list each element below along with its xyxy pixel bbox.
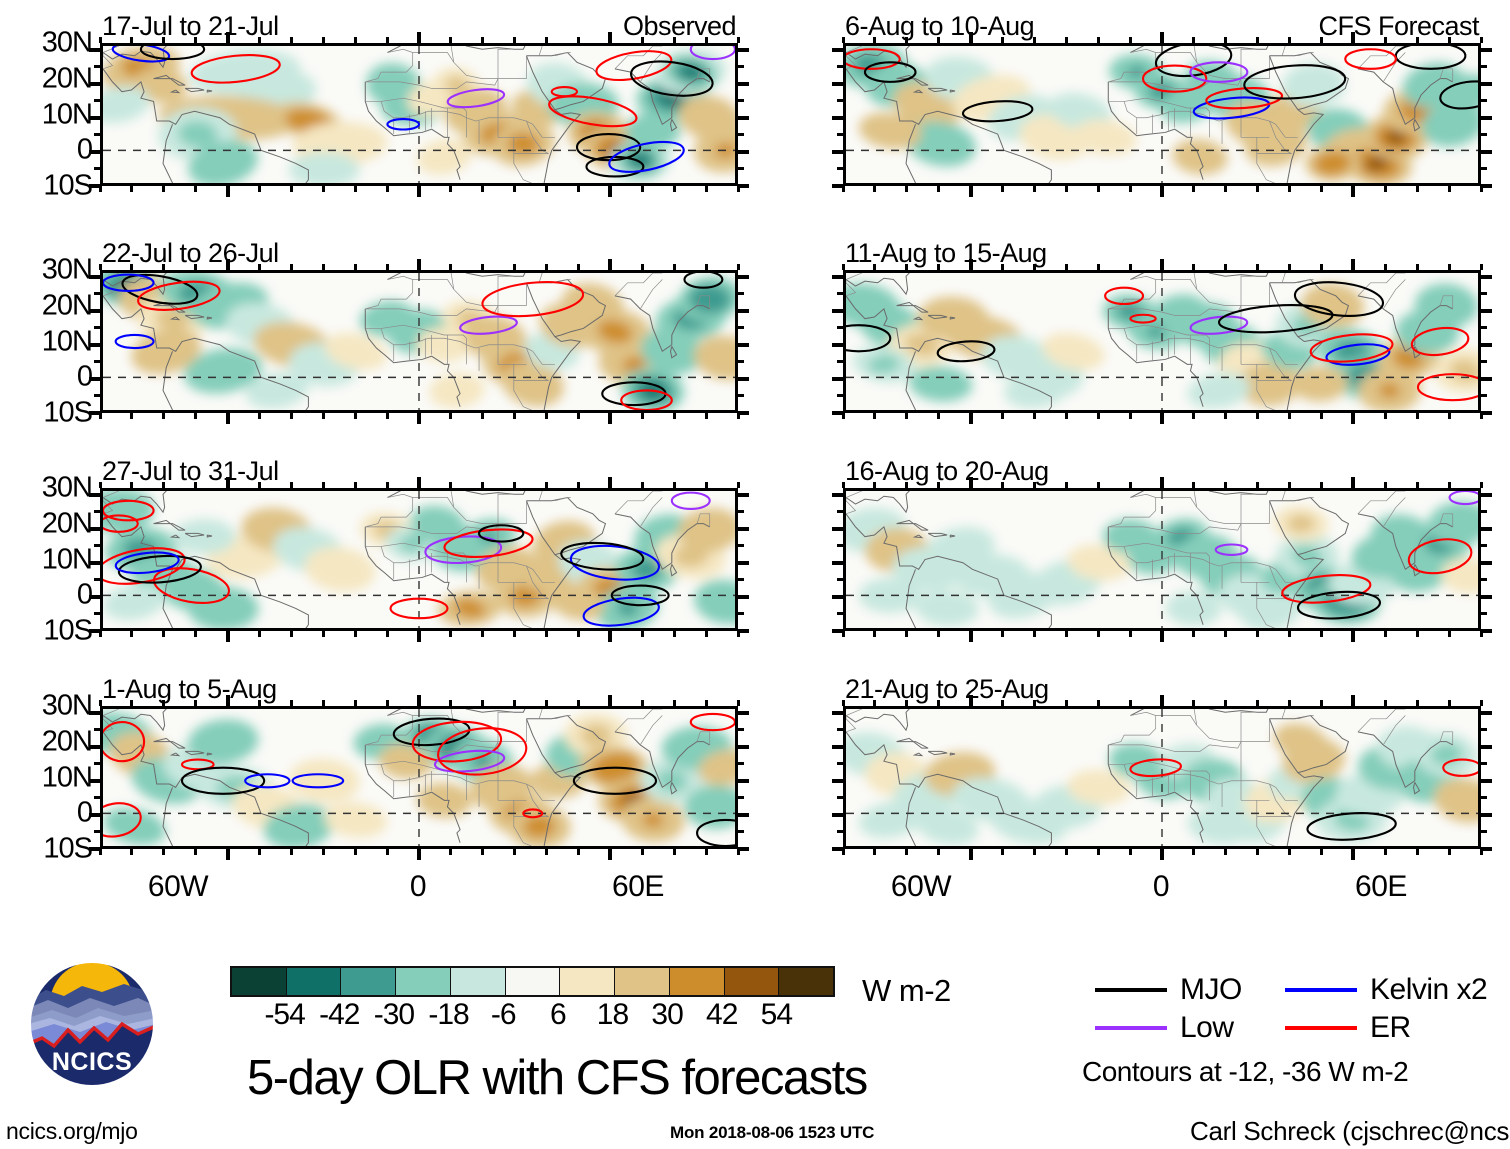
- axis-tick: [1224, 700, 1227, 706]
- axis-tick: [1288, 413, 1291, 419]
- axis-tick: [673, 186, 676, 192]
- axis-tick: [1033, 37, 1036, 43]
- axis-tick: [832, 561, 843, 565]
- axis-tick: [905, 37, 908, 43]
- axis-tick: [837, 578, 843, 581]
- axis-tick: [1448, 849, 1451, 855]
- axis-tick: [1097, 482, 1100, 488]
- axis-tick: [1224, 264, 1227, 270]
- axis-tick: [513, 186, 516, 192]
- axis-tick: [354, 186, 357, 192]
- axis-tick: [738, 847, 749, 851]
- axis-tick: [1481, 326, 1487, 329]
- axis-tick: [1033, 849, 1036, 855]
- lon-tick-label: 60W: [891, 872, 951, 902]
- map-area[interactable]: [843, 270, 1481, 413]
- axis-tick: [832, 275, 843, 279]
- axis-tick: [905, 700, 908, 706]
- axis-tick: [1481, 578, 1487, 581]
- axis-tick: [89, 184, 100, 188]
- axis-tick: [1288, 631, 1291, 637]
- lat-tick-label: 10N: [42, 327, 92, 356]
- kelvin-line-swatch: [1285, 988, 1357, 992]
- axis-tick: [1481, 48, 1492, 52]
- axis-tick: [1481, 779, 1492, 783]
- axis-tick: [1129, 631, 1132, 637]
- lat-tick-label: 10N: [42, 545, 92, 574]
- map-area[interactable]: [100, 43, 738, 186]
- axis-tick: [481, 700, 484, 706]
- legend-item-low: Low: [1095, 1013, 1234, 1043]
- axis-tick: [641, 186, 644, 192]
- axis-tick: [386, 482, 389, 488]
- axis-tick: [1416, 413, 1419, 419]
- axis-tick: [94, 612, 100, 615]
- axis-tick: [837, 762, 843, 765]
- axis-tick: [705, 264, 708, 270]
- axis-tick: [1256, 849, 1259, 855]
- axis-tick: [94, 510, 100, 513]
- axis-tick: [417, 849, 421, 860]
- axis-tick: [1416, 482, 1419, 488]
- axis-tick: [1256, 700, 1259, 706]
- axis-tick: [832, 377, 843, 381]
- axis-tick: [1129, 482, 1132, 488]
- axis-tick: [449, 849, 452, 855]
- axis-tick: [738, 595, 749, 599]
- axis-tick: [738, 779, 749, 783]
- axis-tick: [873, 37, 876, 43]
- axis-tick: [842, 482, 845, 488]
- axis-tick: [737, 37, 740, 43]
- axis-tick: [937, 413, 940, 419]
- axis-tick: [1288, 264, 1291, 270]
- axis-tick: [1384, 186, 1387, 192]
- axis-tick: [608, 413, 612, 424]
- axis-tick: [705, 186, 708, 192]
- axis-tick: [1481, 82, 1492, 86]
- axis-tick: [1481, 360, 1487, 363]
- axis-tick: [1416, 264, 1419, 270]
- axis-tick: [290, 413, 293, 419]
- axis-tick: [1129, 37, 1132, 43]
- axis-tick: [969, 259, 973, 270]
- axis-tick: [481, 37, 484, 43]
- axis-tick: [738, 360, 744, 363]
- axis-tick: [1481, 309, 1492, 313]
- axis-tick: [738, 527, 749, 531]
- axis-tick: [1129, 264, 1132, 270]
- axis-tick: [89, 377, 100, 381]
- logo-text: NCICS: [52, 1048, 132, 1076]
- axis-tick: [937, 186, 940, 192]
- colorbar-band-2: [341, 968, 396, 995]
- axis-tick: [608, 477, 612, 488]
- axis-tick: [1160, 186, 1164, 197]
- legend-item-kelvin: Kelvin x2: [1285, 975, 1487, 1005]
- axis-tick: [94, 167, 100, 170]
- axis-tick: [608, 32, 612, 43]
- axis-tick: [258, 482, 261, 488]
- axis-tick: [94, 65, 100, 68]
- axis-tick: [738, 65, 744, 68]
- axis-tick: [481, 413, 484, 419]
- axis-tick: [258, 849, 261, 855]
- axis-tick: [1224, 482, 1227, 488]
- axis-tick: [969, 186, 973, 197]
- lat-tick-label: 30N: [42, 256, 92, 285]
- axis-tick: [258, 631, 261, 637]
- axis-tick: [737, 482, 740, 488]
- axis-tick: [1320, 482, 1323, 488]
- axis-tick: [738, 82, 749, 86]
- axis-tick: [1256, 264, 1259, 270]
- axis-tick: [837, 612, 843, 615]
- lat-tick-label: 30N: [42, 474, 92, 503]
- axis-tick: [738, 830, 744, 833]
- axis-tick: [417, 477, 421, 488]
- axis-tick: [969, 413, 973, 424]
- axis-tick: [641, 700, 644, 706]
- axis-tick: [1448, 37, 1451, 43]
- axis-tick: [449, 37, 452, 43]
- map-area[interactable]: [843, 488, 1481, 631]
- olr-field: [846, 46, 1478, 183]
- map-area[interactable]: [100, 488, 738, 631]
- axis-tick: [969, 32, 973, 43]
- lat-tick-label: 20N: [42, 64, 92, 93]
- colorbar: [230, 966, 835, 997]
- map-area[interactable]: [843, 706, 1481, 849]
- axis-tick: [89, 711, 100, 715]
- axis-tick: [1001, 186, 1004, 192]
- axis-tick: [1256, 631, 1259, 637]
- axis-tick: [1224, 413, 1227, 419]
- axis-tick: [673, 631, 676, 637]
- axis-tick: [1416, 631, 1419, 637]
- axis-tick: [322, 186, 325, 192]
- panel-p8: 21-Aug to 25-Aug: [843, 706, 1481, 849]
- map-area[interactable]: [843, 43, 1481, 186]
- axis-tick: [194, 37, 197, 43]
- axis-tick: [162, 700, 165, 706]
- lat-tick-label: 10N: [42, 100, 92, 129]
- axis-tick: [89, 343, 100, 347]
- axis-tick: [1160, 413, 1164, 424]
- axis-tick: [1481, 762, 1487, 765]
- lat-tick-label: 20N: [42, 509, 92, 538]
- axis-tick: [641, 631, 644, 637]
- axis-tick: [1160, 695, 1164, 706]
- axis-tick: [194, 186, 197, 192]
- low-line-swatch: [1095, 1026, 1167, 1030]
- axis-tick: [1351, 32, 1355, 43]
- axis-tick: [873, 700, 876, 706]
- axis-tick: [705, 413, 708, 419]
- axis-tick: [1192, 186, 1195, 192]
- axis-tick: [1192, 413, 1195, 419]
- axis-tick: [1481, 99, 1487, 102]
- axis-tick: [1481, 65, 1487, 68]
- axis-tick: [577, 37, 580, 43]
- axis-tick: [1351, 695, 1355, 706]
- axis-tick: [832, 343, 843, 347]
- axis-tick: [641, 849, 644, 855]
- axis-tick: [545, 264, 548, 270]
- timestamp: Mon 2018-08-06 1523 UTC: [670, 1124, 874, 1141]
- axis-tick: [905, 413, 908, 419]
- colorbar-tick-label: 6: [550, 1000, 566, 1030]
- colorbar-band-3: [396, 968, 451, 995]
- axis-tick: [1001, 264, 1004, 270]
- axis-tick: [1001, 849, 1004, 855]
- axis-tick: [1448, 264, 1451, 270]
- axis-tick: [873, 849, 876, 855]
- axis-tick: [1384, 264, 1387, 270]
- axis-tick: [226, 32, 230, 43]
- axis-tick: [1065, 631, 1068, 637]
- axis-tick: [354, 482, 357, 488]
- axis-tick: [94, 326, 100, 329]
- axis-tick: [1160, 849, 1164, 860]
- axis-tick: [89, 527, 100, 531]
- axis-tick: [386, 700, 389, 706]
- lon-tick-label: 60E: [612, 872, 664, 902]
- axis-tick: [545, 37, 548, 43]
- axis-tick: [673, 700, 676, 706]
- axis-tick: [322, 849, 325, 855]
- axis-tick: [1351, 413, 1355, 424]
- axis-tick: [738, 493, 749, 497]
- axis-tick: [832, 116, 843, 120]
- axis-tick: [1481, 411, 1492, 415]
- lat-axis-labels-row1: 30N 20N 10N 0 10S: [0, 43, 92, 186]
- axis-tick: [89, 116, 100, 120]
- axis-tick: [1256, 186, 1259, 192]
- axis-tick: [873, 482, 876, 488]
- axis-tick: [162, 413, 165, 419]
- axis-tick: [1320, 700, 1323, 706]
- axis-tick: [1033, 264, 1036, 270]
- axis-tick: [1416, 700, 1419, 706]
- axis-tick: [1384, 413, 1387, 419]
- axis-tick: [969, 477, 973, 488]
- axis-tick: [1033, 700, 1036, 706]
- axis-tick: [449, 631, 452, 637]
- panel-title: 22-Jul to 26-Jul: [102, 240, 279, 267]
- mjo-line-swatch: [1095, 988, 1167, 992]
- axis-tick: [417, 259, 421, 270]
- axis-tick: [354, 413, 357, 419]
- axis-tick: [1481, 510, 1487, 513]
- olr-field: [103, 273, 735, 410]
- axis-tick: [1416, 186, 1419, 192]
- figure-title: 5-day OLR with CFS forecasts: [247, 1054, 867, 1103]
- axis-tick: [417, 186, 421, 197]
- axis-tick: [1097, 631, 1100, 637]
- olr-field: [103, 46, 735, 183]
- lat-tick-label: 10S: [43, 835, 92, 864]
- axis-tick: [1481, 728, 1487, 731]
- axis-tick: [481, 186, 484, 192]
- axis-tick: [873, 413, 876, 419]
- axis-tick: [1481, 184, 1492, 188]
- axis-tick: [1224, 631, 1227, 637]
- legend-label: Kelvin x2: [1370, 975, 1487, 1005]
- axis-tick: [89, 745, 100, 749]
- axis-tick: [1481, 745, 1492, 749]
- axis-tick: [449, 700, 452, 706]
- axis-tick: [1033, 631, 1036, 637]
- axis-tick: [449, 413, 452, 419]
- axis-tick: [290, 631, 293, 637]
- axis-tick: [194, 700, 197, 706]
- axis-tick: [322, 413, 325, 419]
- colorbar-tick-label: 18: [597, 1000, 628, 1030]
- axis-tick: [873, 186, 876, 192]
- axis-tick: [641, 264, 644, 270]
- axis-tick: [354, 849, 357, 855]
- axis-tick: [608, 849, 612, 860]
- colorbar-band-8: [670, 968, 725, 995]
- axis-tick: [832, 745, 843, 749]
- axis-tick: [837, 326, 843, 329]
- olr-field: [846, 709, 1478, 846]
- axis-tick: [130, 186, 133, 192]
- axis-tick: [89, 779, 100, 783]
- axis-tick: [1481, 275, 1492, 279]
- axis-tick: [1416, 849, 1419, 855]
- axis-tick: [608, 186, 612, 197]
- axis-tick: [705, 37, 708, 43]
- axis-tick: [738, 167, 744, 170]
- axis-tick: [738, 813, 749, 817]
- axis-tick: [1065, 264, 1068, 270]
- axis-tick: [738, 711, 749, 715]
- panel-p4: 1-Aug to 5-Aug: [100, 706, 738, 849]
- axis-tick: [1160, 259, 1164, 270]
- panel-title: 11-Aug to 15-Aug: [845, 240, 1047, 267]
- lat-tick-label: 10N: [42, 763, 92, 792]
- axis-tick: [89, 150, 100, 154]
- axis-tick: [1097, 849, 1100, 855]
- axis-tick: [842, 37, 845, 43]
- axis-tick: [290, 37, 293, 43]
- axis-tick: [94, 762, 100, 765]
- axis-tick: [1288, 482, 1291, 488]
- colorbar-tick-label: 54: [761, 1000, 792, 1030]
- axis-tick: [905, 631, 908, 637]
- map-area[interactable]: [100, 706, 738, 849]
- axis-tick: [386, 264, 389, 270]
- axis-tick: [89, 813, 100, 817]
- axis-tick: [322, 264, 325, 270]
- axis-tick: [837, 510, 843, 513]
- axis-tick: [89, 493, 100, 497]
- axis-tick: [1288, 849, 1291, 855]
- axis-tick: [194, 413, 197, 419]
- axis-tick: [1097, 700, 1100, 706]
- axis-tick: [937, 264, 940, 270]
- axis-tick: [417, 631, 421, 642]
- axis-tick: [1481, 595, 1492, 599]
- axis-tick: [705, 631, 708, 637]
- axis-tick: [837, 544, 843, 547]
- axis-tick: [832, 629, 843, 633]
- axis-tick: [1448, 413, 1451, 419]
- axis-tick: [94, 830, 100, 833]
- axis-tick: [99, 700, 102, 706]
- axis-tick: [1481, 544, 1487, 547]
- axis-tick: [354, 631, 357, 637]
- contour-note: Contours at -12, -36 W m-2: [1082, 1058, 1408, 1086]
- axis-tick: [1448, 631, 1451, 637]
- axis-tick: [738, 578, 744, 581]
- axis-tick: [608, 259, 612, 270]
- axis-tick: [513, 631, 516, 637]
- axis-tick: [130, 482, 133, 488]
- lat-tick-label: 30N: [42, 29, 92, 58]
- colorbar-band-0: [232, 968, 287, 995]
- axis-tick: [94, 292, 100, 295]
- axis-tick: [1192, 700, 1195, 706]
- axis-tick: [89, 561, 100, 565]
- axis-tick: [1481, 561, 1492, 565]
- colorbar-units-label: W m-2: [862, 975, 951, 1006]
- axis-tick: [641, 482, 644, 488]
- legend-item-er: ER: [1285, 1013, 1411, 1043]
- axis-tick: [1351, 259, 1355, 270]
- axis-tick: [162, 849, 165, 855]
- axis-tick: [937, 849, 940, 855]
- axis-tick: [417, 695, 421, 706]
- axis-tick: [89, 595, 100, 599]
- site-url[interactable]: ncics.org/mjo: [6, 1120, 138, 1143]
- axis-tick: [608, 631, 612, 642]
- axis-tick: [89, 411, 100, 415]
- axis-tick: [354, 264, 357, 270]
- axis-tick: [226, 849, 230, 860]
- legend-item-mjo: MJO: [1095, 975, 1242, 1005]
- axis-tick: [832, 493, 843, 497]
- axis-tick: [513, 37, 516, 43]
- axis-tick: [969, 695, 973, 706]
- axis-tick: [417, 32, 421, 43]
- axis-tick: [1481, 377, 1492, 381]
- colorbar-tick-label: -18: [428, 1000, 468, 1030]
- axis-tick: [738, 612, 744, 615]
- map-area[interactable]: [100, 270, 738, 413]
- axis-tick: [837, 133, 843, 136]
- axis-tick: [99, 37, 102, 43]
- axis-tick: [322, 482, 325, 488]
- axis-tick: [162, 631, 165, 637]
- olr-field: [103, 491, 735, 628]
- axis-tick: [577, 413, 580, 419]
- axis-tick: [738, 796, 744, 799]
- axis-tick: [513, 264, 516, 270]
- axis-tick: [837, 360, 843, 363]
- axis-tick: [1065, 482, 1068, 488]
- axis-tick: [577, 700, 580, 706]
- axis-tick: [673, 37, 676, 43]
- axis-tick: [513, 413, 516, 419]
- axis-tick: [1351, 631, 1355, 642]
- legend-label: MJO: [1180, 975, 1242, 1005]
- axis-tick: [1001, 482, 1004, 488]
- axis-tick: [1001, 631, 1004, 637]
- axis-tick: [738, 343, 749, 347]
